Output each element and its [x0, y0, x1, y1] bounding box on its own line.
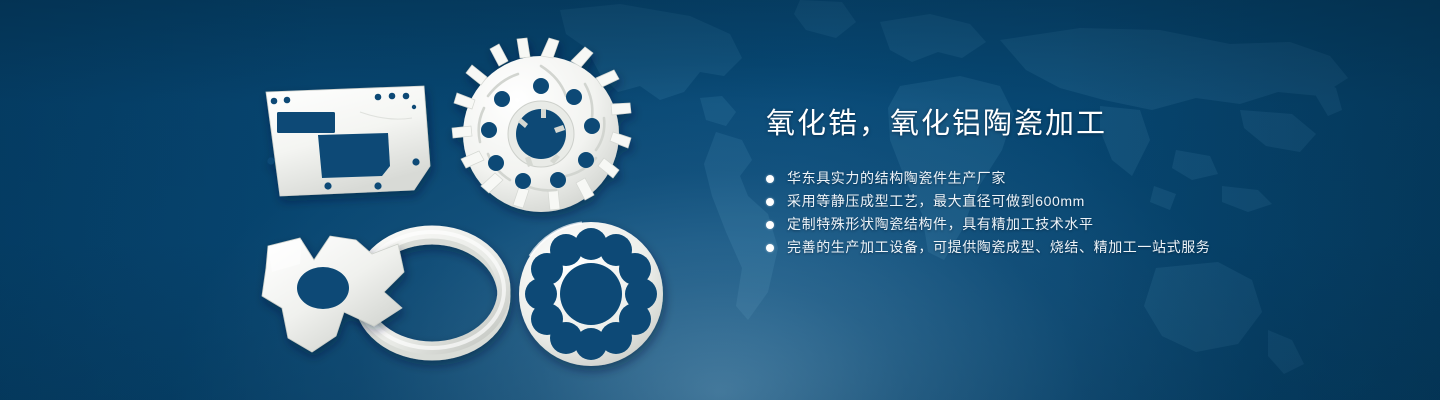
- product-photo-cluster: [0, 0, 760, 400]
- banner-copy: 氧化锆，氧化铝陶瓷加工 华东具实力的结构陶瓷件生产厂家 采用等静压成型工艺，最大…: [766, 106, 1386, 259]
- page-title: 氧化锆，氧化铝陶瓷加工: [766, 106, 1386, 142]
- list-item-label: 采用等静压成型工艺，最大直径可做到600mm: [787, 190, 1085, 213]
- bullet-dot-icon: [766, 244, 774, 252]
- list-item-label: 华东具实力的结构陶瓷件生产厂家: [787, 167, 1006, 190]
- list-item: 完善的生产加工设备，可提供陶瓷成型、烧结、精加工一站式服务: [766, 236, 1386, 259]
- bullet-dot-icon: [766, 221, 774, 229]
- bullet-dot-icon: [766, 175, 774, 183]
- list-item: 定制特殊形状陶瓷结构件，具有精加工技术水平: [766, 213, 1386, 236]
- list-item: 采用等静压成型工艺，最大直径可做到600mm: [766, 190, 1386, 213]
- ceramic-impeller-disc: [452, 38, 631, 212]
- ceramic-plate-with-holes: [266, 86, 430, 196]
- hero-banner: 氧化锆，氧化铝陶瓷加工 华东具实力的结构陶瓷件生产厂家 采用等静压成型工艺，最大…: [0, 0, 1440, 400]
- feature-list: 华东具实力的结构陶瓷件生产厂家 采用等静压成型工艺，最大直径可做到600mm 定…: [766, 167, 1386, 259]
- list-item: 华东具实力的结构陶瓷件生产厂家: [766, 167, 1386, 190]
- ceramic-perforated-disc: [519, 222, 663, 366]
- bullet-dot-icon: [766, 198, 774, 206]
- list-item-label: 定制特殊形状陶瓷结构件，具有精加工技术水平: [787, 213, 1094, 236]
- list-item-label: 完善的生产加工设备，可提供陶瓷成型、烧结、精加工一站式服务: [787, 236, 1210, 259]
